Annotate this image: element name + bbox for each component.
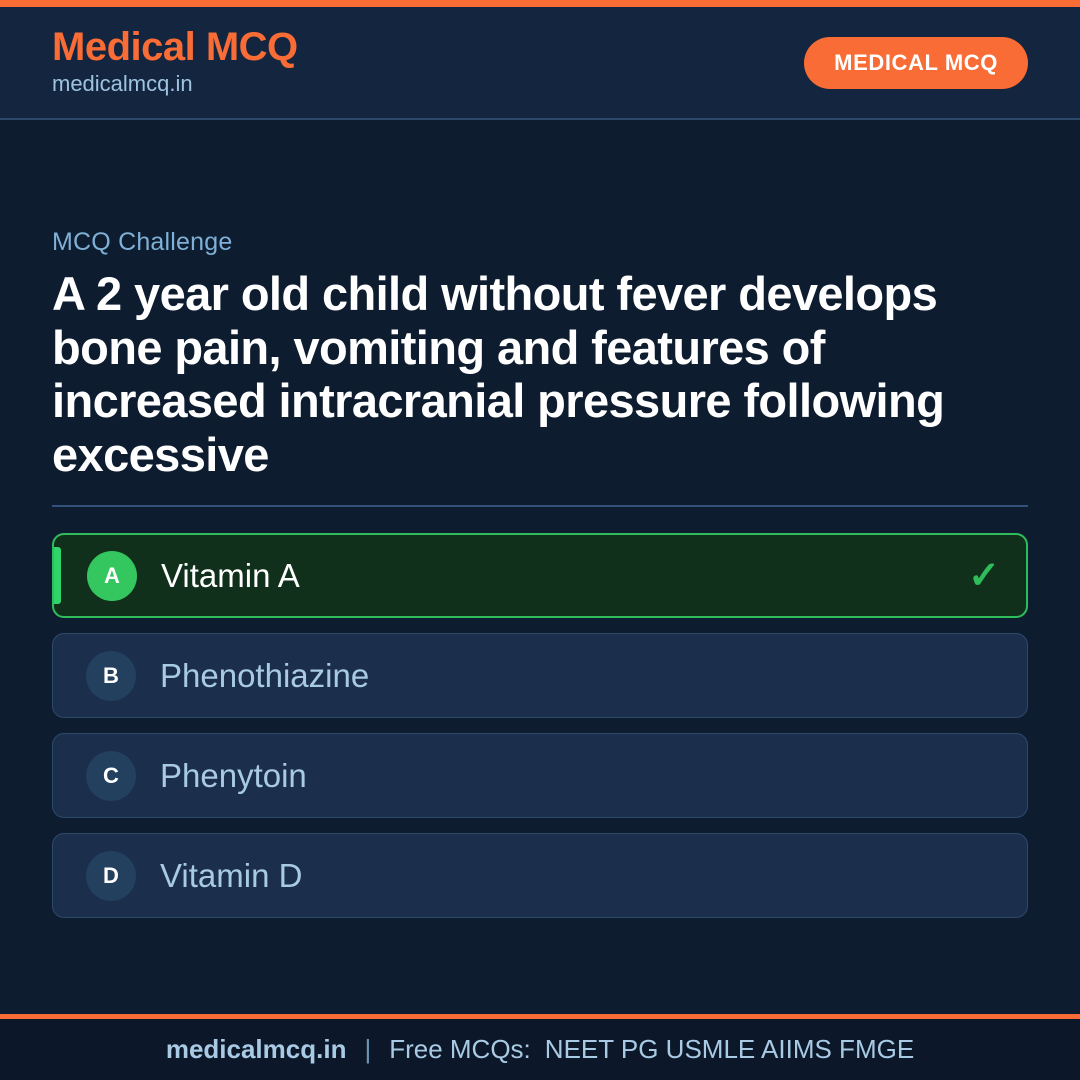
option-a[interactable]: A Vitamin A ✓: [52, 533, 1028, 618]
eyebrow-label: MCQ Challenge: [52, 228, 1028, 257]
correct-accent-bar: [54, 547, 61, 604]
option-c[interactable]: C Phenytoin ✓: [52, 733, 1028, 818]
option-label: Vitamin A: [161, 559, 300, 592]
brand-block: Medical MCQ medicalmcq.in: [52, 26, 298, 99]
option-letter-badge: D: [86, 851, 136, 901]
section-divider: [52, 505, 1028, 507]
top-accent-bar: [0, 0, 1080, 7]
footer-exam-list: NEET PG USMLE AIIMS FMGE: [545, 1034, 914, 1065]
main-content: MCQ Challenge A 2 year old child without…: [0, 120, 1080, 1014]
brand-subtitle: medicalmcq.in: [52, 70, 298, 99]
brand-title: Medical MCQ: [52, 26, 298, 68]
footer-prefix-label: Free MCQs:: [389, 1034, 531, 1065]
option-label: Phenothiazine: [160, 659, 369, 692]
footer-separator: |: [364, 1034, 371, 1065]
option-b[interactable]: B Phenothiazine ✓: [52, 633, 1028, 718]
option-d[interactable]: D Vitamin D ✓: [52, 833, 1028, 918]
option-label: Phenytoin: [160, 759, 307, 792]
header: Medical MCQ medicalmcq.in MEDICAL MCQ: [0, 7, 1080, 120]
option-letter-badge: B: [86, 651, 136, 701]
footer: medicalmcq.in | Free MCQs: NEET PG USMLE…: [0, 1014, 1080, 1080]
options-list: A Vitamin A ✓ B Phenothiazine ✓ C Phenyt…: [52, 533, 1028, 918]
footer-site-link[interactable]: medicalmcq.in: [166, 1034, 347, 1065]
header-badge[interactable]: MEDICAL MCQ: [804, 37, 1028, 89]
footer-text: medicalmcq.in | Free MCQs: NEET PG USMLE…: [166, 1034, 914, 1065]
question-text: A 2 year old child without fever develop…: [52, 267, 1028, 481]
option-letter-badge: A: [87, 551, 137, 601]
mcq-card: Medical MCQ medicalmcq.in MEDICAL MCQ MC…: [0, 0, 1080, 1080]
option-label: Vitamin D: [160, 859, 302, 892]
check-icon: ✓: [968, 557, 1000, 595]
option-letter-badge: C: [86, 751, 136, 801]
